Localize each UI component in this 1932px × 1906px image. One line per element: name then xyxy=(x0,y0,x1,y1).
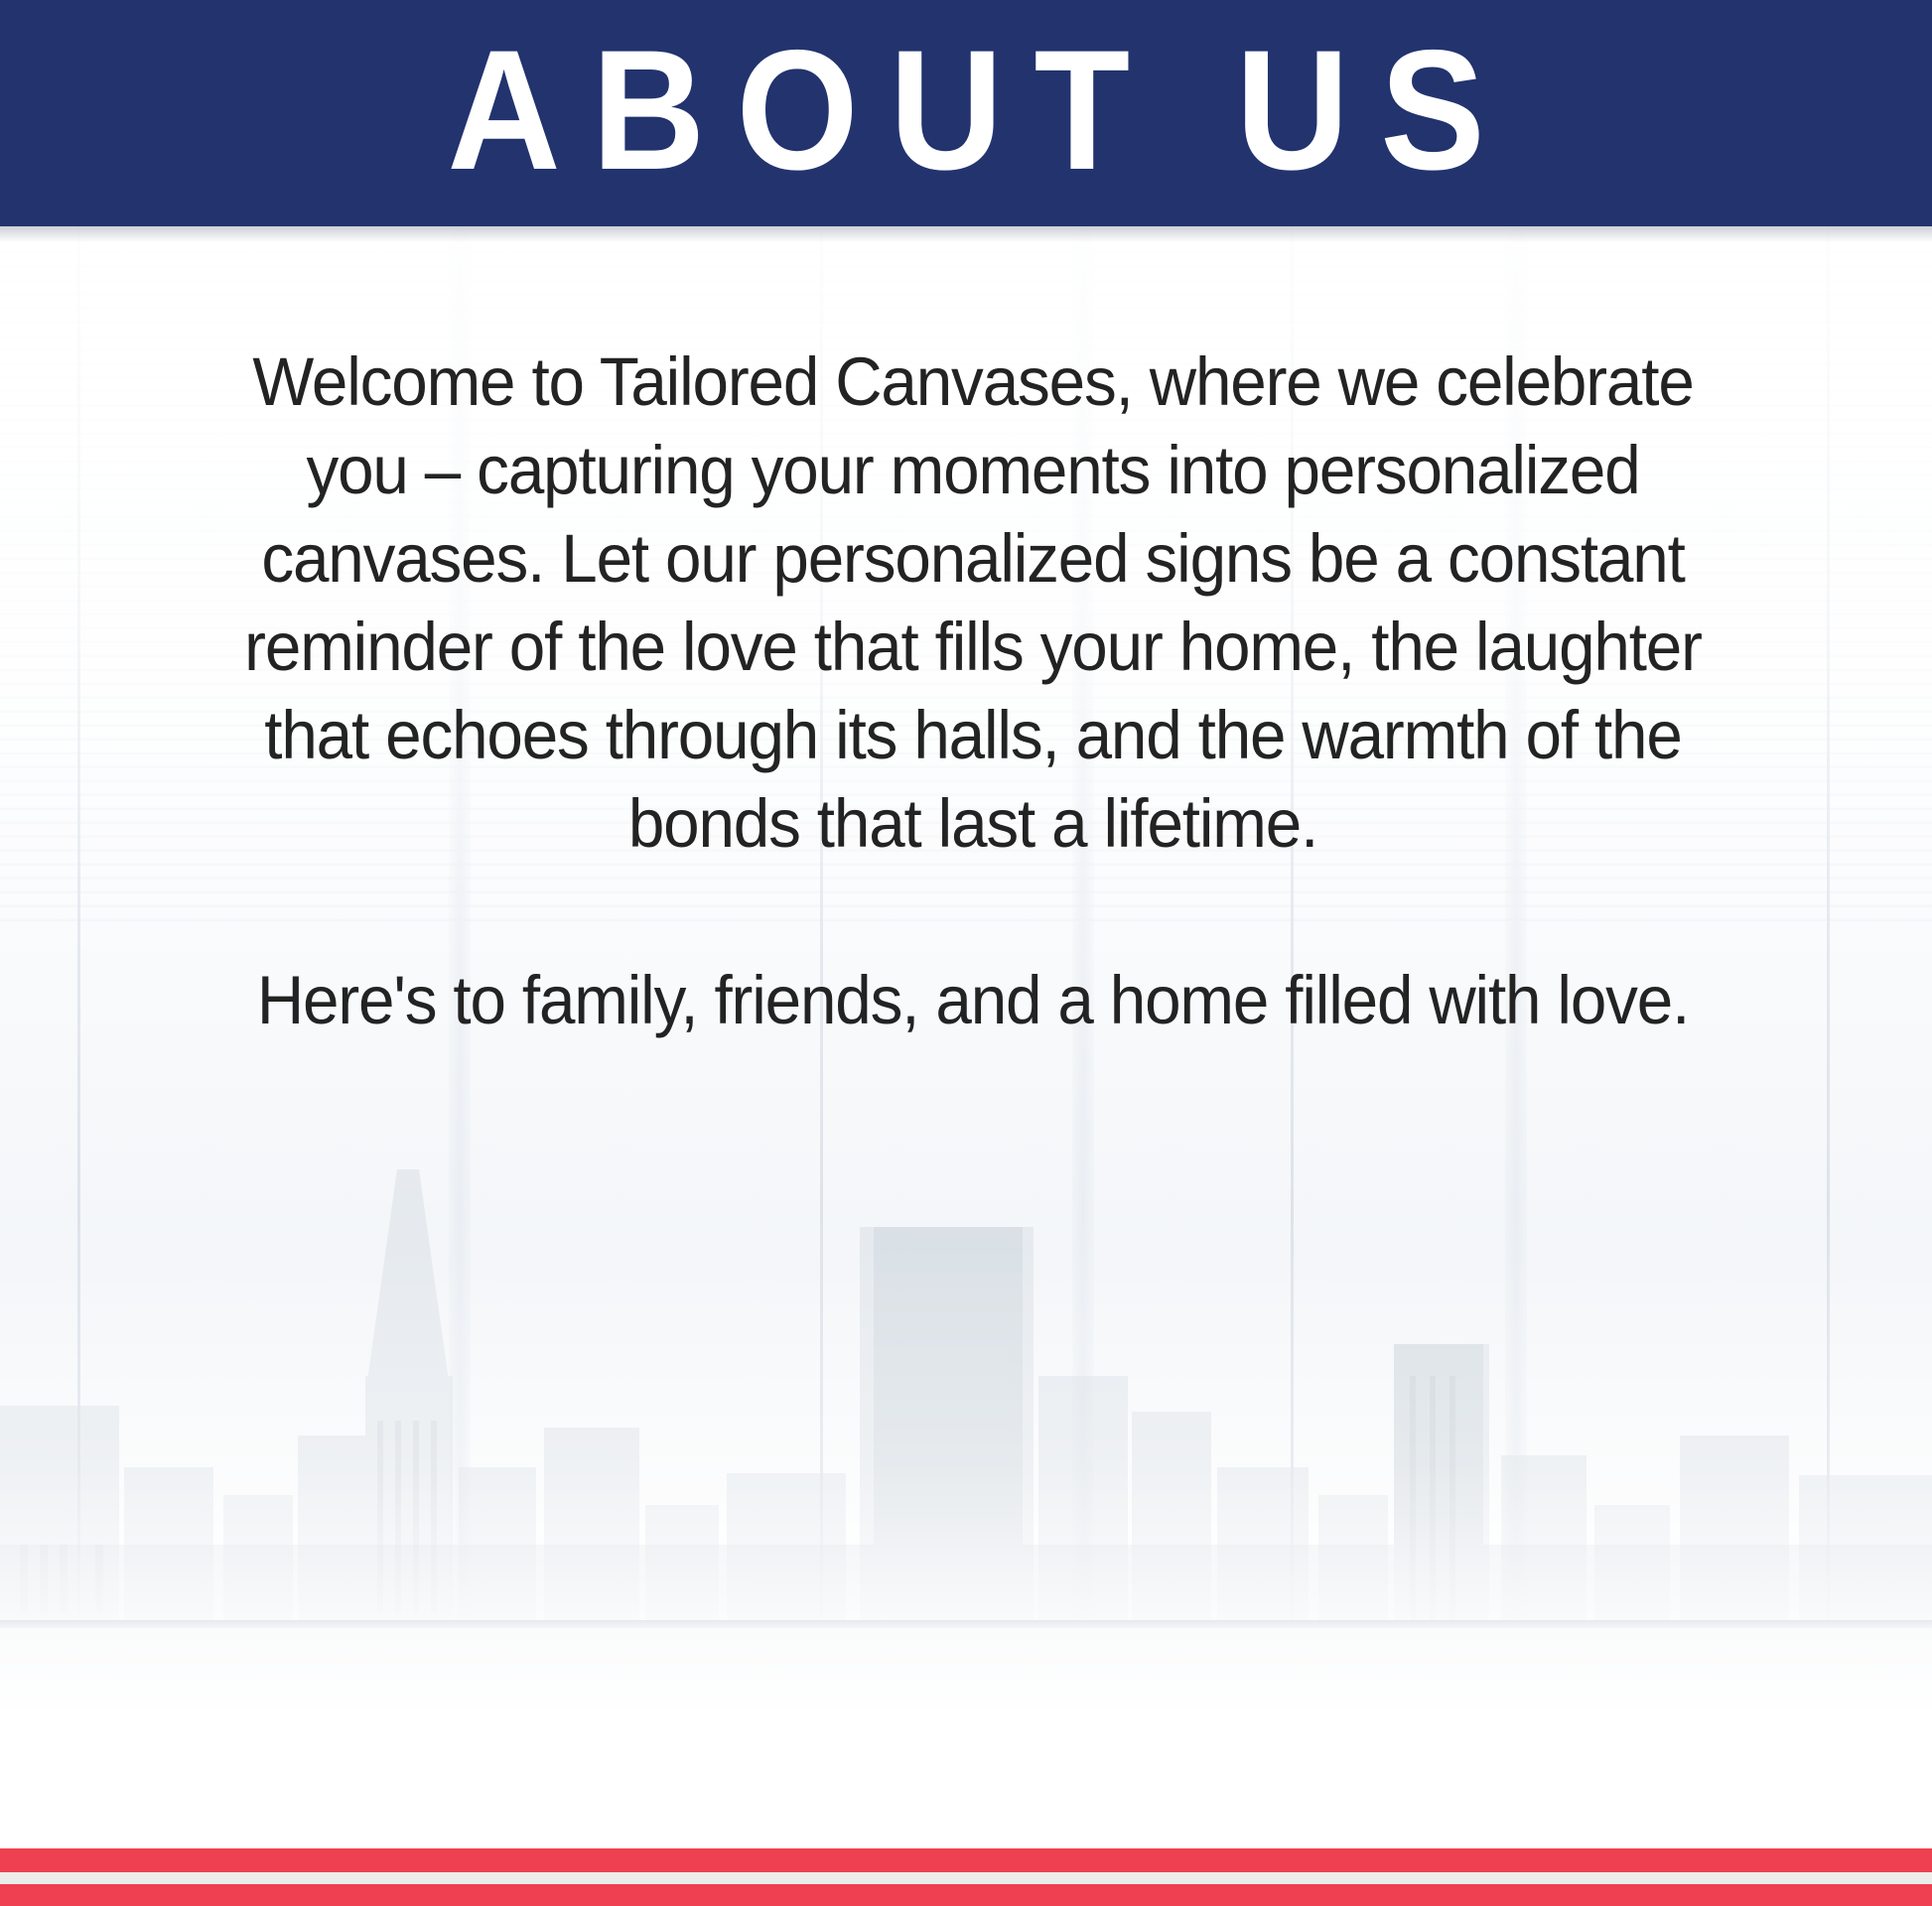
page-header: ABOUT US xyxy=(0,0,1932,226)
bottom-stripe-top xyxy=(0,1848,1932,1872)
founder-block: Founder of Tailored Canvases xyxy=(0,1410,1932,1837)
about-paragraph-2: Here's to family, friends, and a home fi… xyxy=(237,956,1709,1044)
about-paragraph-1: Welcome to Tailored Canvases, where we c… xyxy=(237,338,1709,868)
header-shadow xyxy=(0,226,1932,242)
about-us-page: ABOUT US Welcome to Tailored Canvases, w… xyxy=(0,0,1932,1906)
about-body-copy: Welcome to Tailored Canvases, where we c… xyxy=(237,338,1709,1044)
bottom-stripe-bottom xyxy=(0,1884,1932,1906)
paragraph-spacer xyxy=(237,868,1709,956)
bottom-stripe-gap xyxy=(0,1872,1932,1884)
page-title: ABOUT US xyxy=(416,25,1516,196)
